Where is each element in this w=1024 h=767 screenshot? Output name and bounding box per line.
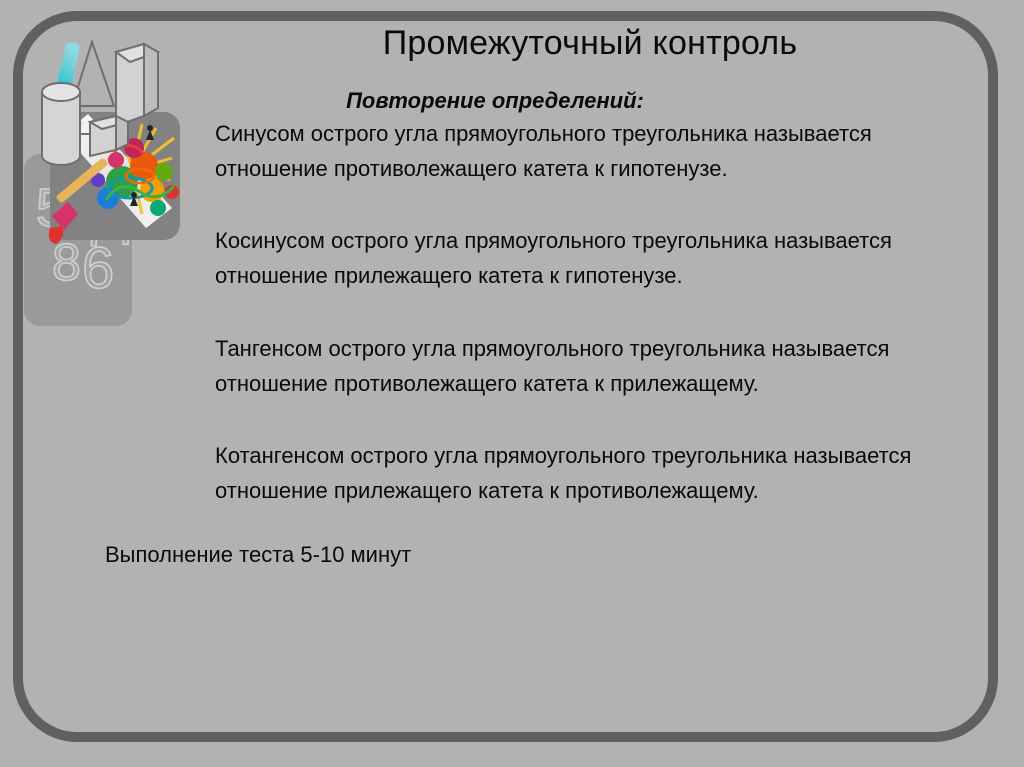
page-title: Промежуточный контроль [200, 24, 980, 63]
spacer-1 [105, 186, 965, 223]
definition-sine: Синусом острого угла прямоугольного треу… [215, 116, 975, 186]
slide-body: Повторение определений: Синусом острого … [105, 88, 965, 708]
definition-tangent: Тангенсом острого угла прямоугольного тр… [215, 331, 975, 401]
definition-cotangent: Котангенсом острого угла прямоугольного … [215, 438, 975, 508]
section-subtitle: Повторение определений: [215, 88, 775, 114]
spacer-3 [105, 401, 965, 438]
definition-cosine: Косинусом острого угла прямоугольного тр… [215, 223, 975, 293]
test-duration-note: Выполнение теста 5-10 минут [105, 539, 965, 571]
spacer-2 [105, 293, 965, 331]
slide-canvas: 5 1 3 9 7 4 8 6 [0, 0, 1024, 767]
spacer-4 [105, 508, 965, 539]
slide-title: Промежуточный контроль [200, 24, 980, 74]
